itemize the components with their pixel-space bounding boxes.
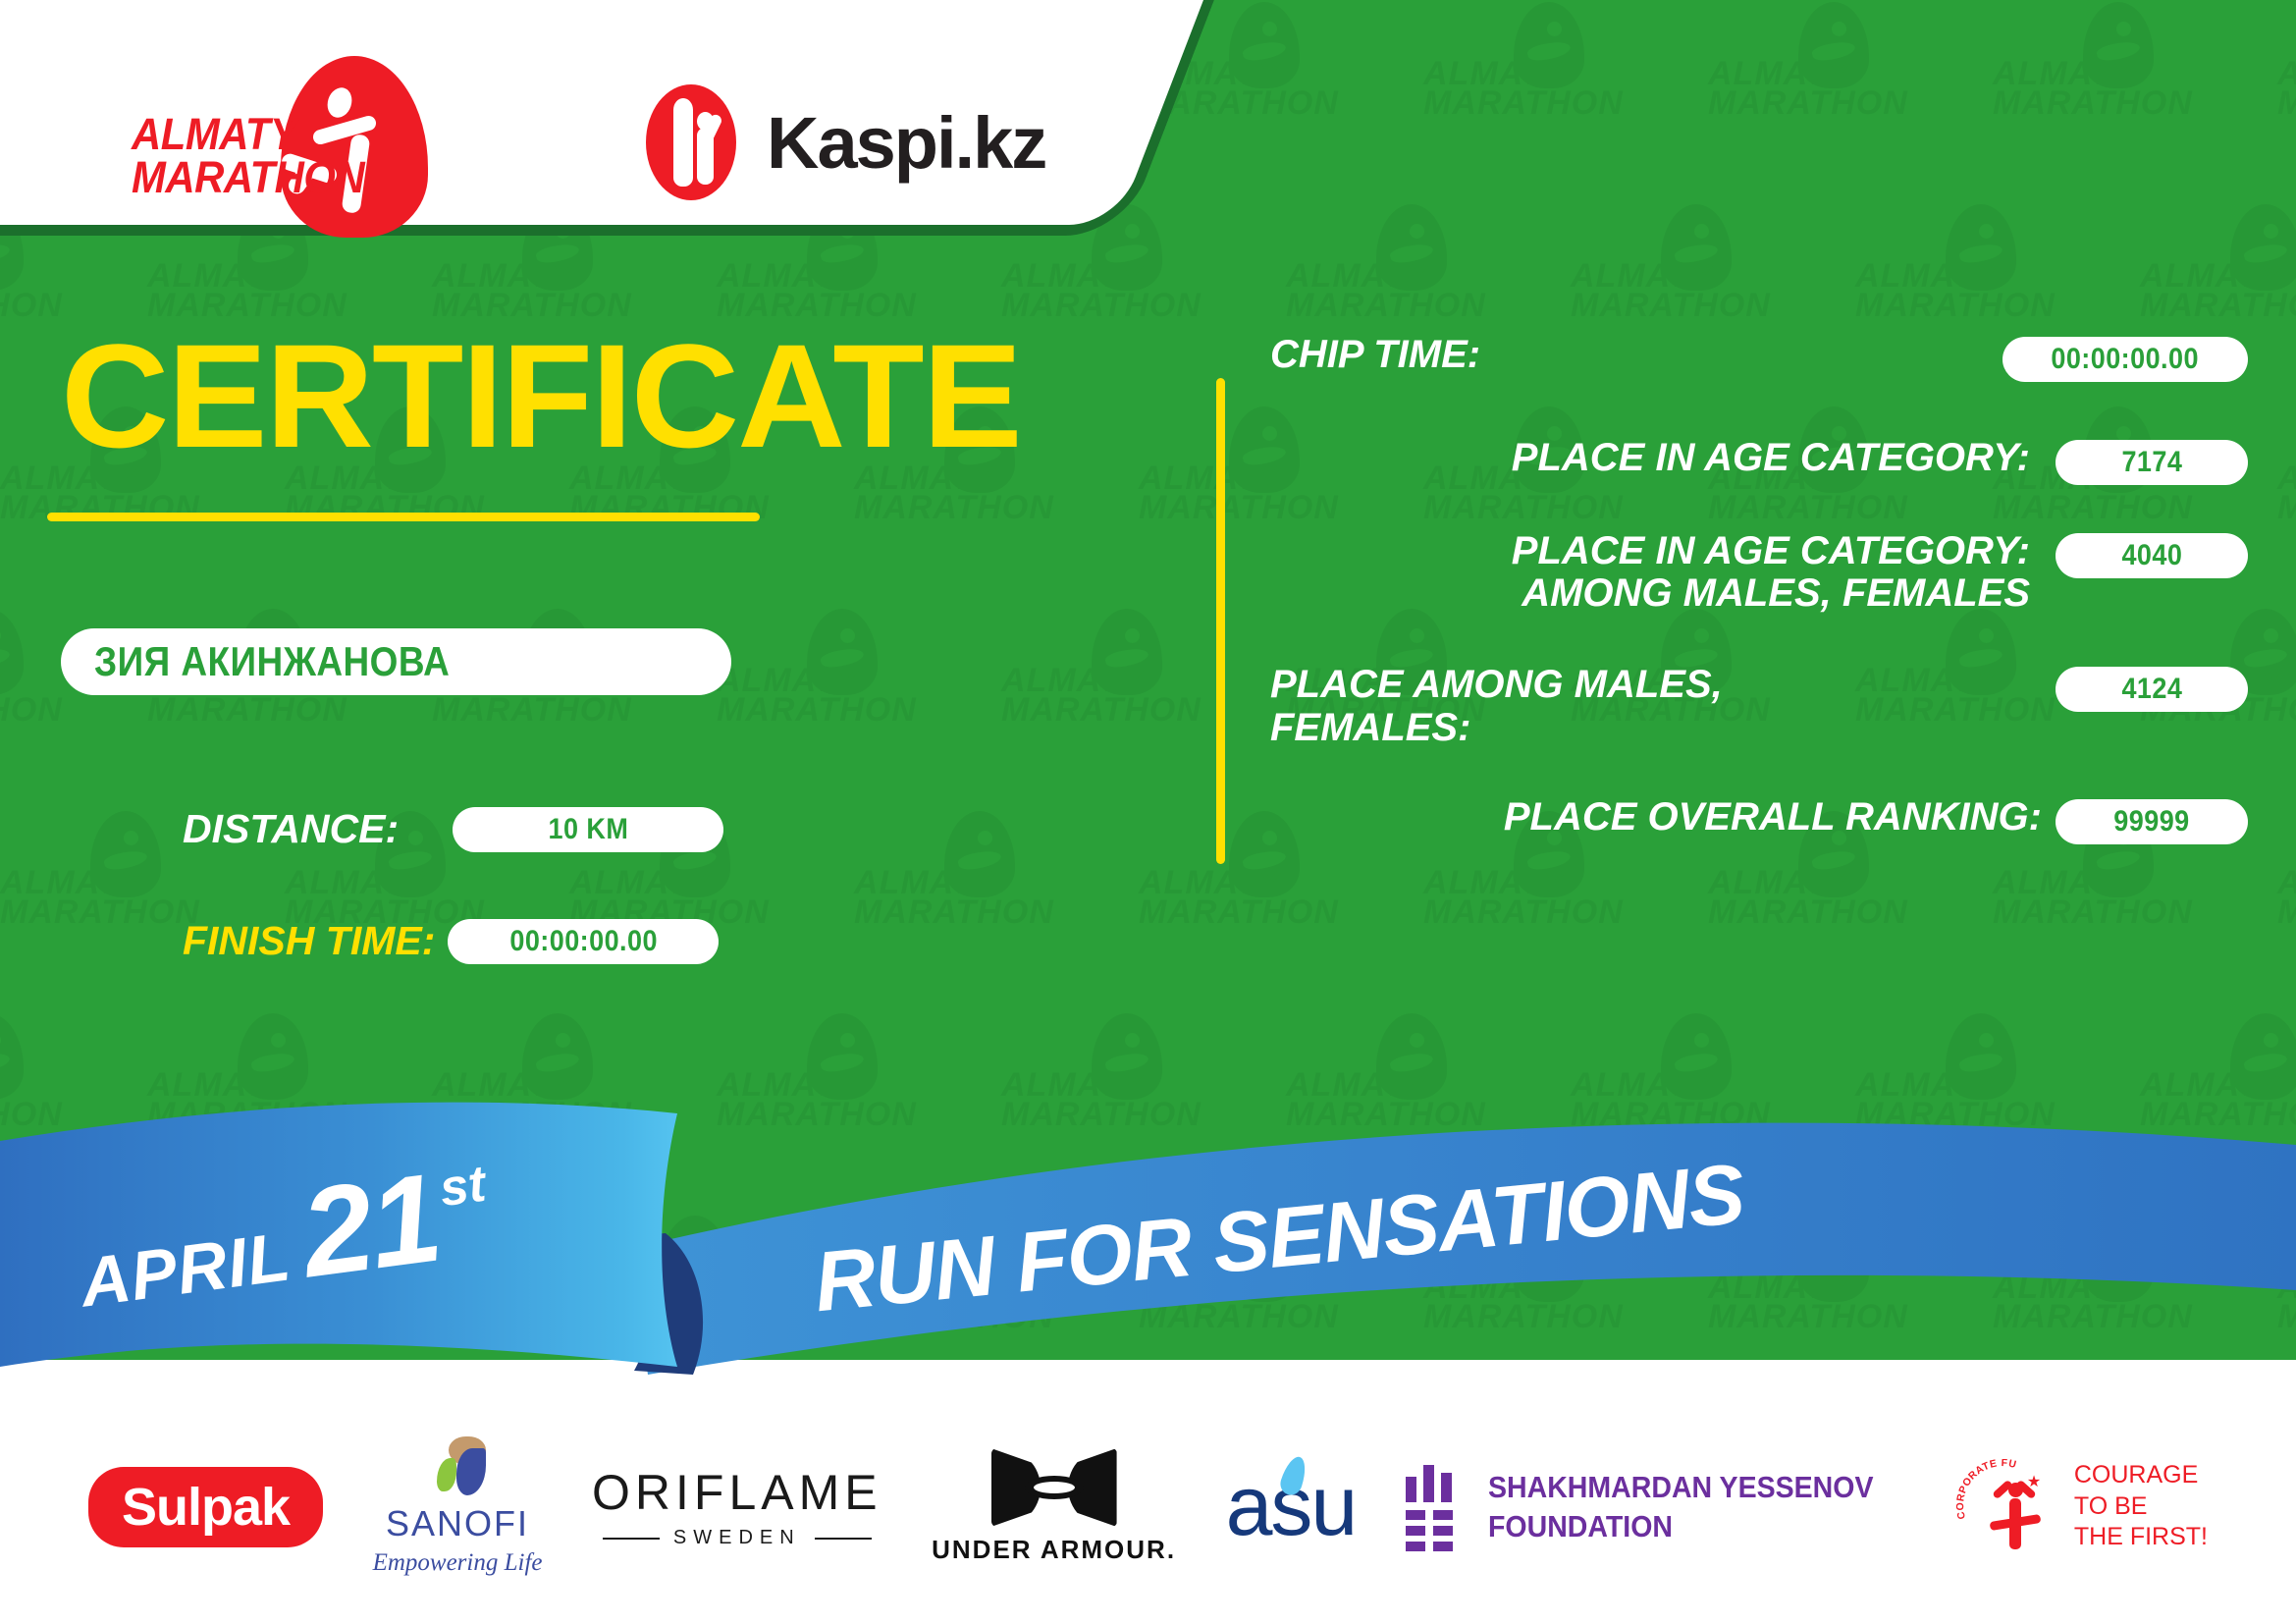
certificate-canvas: ALMATYMARATHONALMATYMARATHONALMATYMARATH… — [0, 0, 2296, 1624]
yessenov-grid — [1406, 1510, 1453, 1551]
kaspi-child-figure-icon — [697, 128, 714, 185]
oriflame-rule-right — [815, 1538, 872, 1540]
watermark-drop-icon — [1946, 204, 2016, 291]
kaspi-logo: Kaspi.kz — [638, 84, 1045, 200]
event-ribbon: APRIL 21 st RUN FOR SENSATIONS — [0, 1080, 2296, 1404]
watermark-line-1: ALMATY — [2277, 59, 2296, 89]
watermark-line-2: MARATHON — [1993, 88, 2193, 119]
watermark-drop-icon — [1514, 2, 1584, 88]
watermark-tile: ALMATYMARATHON — [1423, 0, 1679, 187]
sponsor-courage-fund: CORPORATE FUND ★ COURAGE TO BE THE FIRST… — [1956, 1453, 2208, 1561]
participant-name-value: ЗИЯ АКИНЖАНОВА — [94, 638, 450, 685]
watermark-tile: ALMATYMARATHON — [1708, 0, 1963, 187]
place-age-category-row: PLACE IN AGE CATEGORY: 7174 — [1266, 437, 2248, 485]
event-day-ordinal: st — [437, 1155, 490, 1219]
almaty-line: ALMATY — [132, 113, 364, 156]
courage-fund-icon: CORPORATE FUND ★ — [1956, 1453, 2062, 1561]
sponsor-asu: asu — [1226, 1458, 1357, 1555]
watermark-tile: ALMATYMARATHON — [2277, 405, 2296, 591]
kaspi-adult-figure-icon — [673, 102, 693, 187]
ua-center-oval — [1025, 1476, 1084, 1499]
place-among-gender-label: PLACE AMONG MALES, FEMALES: — [1266, 664, 2056, 748]
watermark-line-1: ALMATY — [2140, 261, 2282, 292]
watermark-line-2: MARATHON — [1708, 897, 1908, 928]
kaspi-wordmark: Kaspi.kz — [767, 101, 1045, 185]
chip-time-row: CHIP TIME: 00:00:00.00 — [1266, 334, 2248, 382]
distance-value: 10 KM — [548, 813, 628, 846]
watermark-drop-icon — [2230, 204, 2296, 291]
place-age-category-gender-row: PLACE IN AGE CATEGORY: AMONG MALES, FEMA… — [1266, 530, 2248, 615]
distance-value-pill: 10 KM — [453, 807, 723, 852]
watermark-line-2: MARATHON — [2277, 88, 2296, 119]
chip-time-label: CHIP TIME: — [1266, 334, 2002, 376]
family-circle-icon — [638, 84, 741, 200]
place-age-category-label: PLACE IN AGE CATEGORY: — [1266, 437, 2056, 479]
place-age-category-gender-value: 4040 — [2121, 539, 2182, 572]
watermark-line-2: MARATHON — [1423, 88, 1624, 119]
watermark-line-1: ALMATY — [1993, 59, 2135, 89]
sanofi-blue-shape — [456, 1448, 486, 1495]
place-overall-value: 99999 — [2113, 805, 2189, 839]
place-age-category-value-pill: 7174 — [2056, 440, 2248, 485]
chip-time-value: 00:00:00.00 — [2052, 343, 2200, 376]
place-among-gender-row: PLACE AMONG MALES, FEMALES: 4124 — [1266, 664, 2248, 748]
watermark-drop-icon — [1229, 2, 1300, 88]
watermark-line-1: ALMATY — [1423, 59, 1566, 89]
watermark-line-1: ALMATY — [1286, 261, 1428, 292]
watermark-drop-icon — [2083, 2, 2154, 88]
sponsor-bar: Sulpak SANOFI Empowering Life ORIFLAME S… — [0, 1389, 2296, 1624]
watermark-line-2: MARATHON — [1993, 897, 2193, 928]
header-logo-row: ALMATY MARATHON Kaspi.kz — [0, 0, 1217, 285]
watermark-drop-icon — [1661, 204, 1732, 291]
watermark-line-2: MARATHON — [1286, 291, 1486, 321]
participant-name-field[interactable]: ЗИЯ АКИНЖАНОВА — [61, 628, 731, 695]
watermark-tile: ALMATYMARATHON — [1993, 0, 2248, 187]
watermark-line-2: MARATHON — [1139, 897, 1339, 928]
finish-time-label: FINISH TIME: — [183, 918, 435, 964]
sanofi-tagline: Empowering Life — [373, 1549, 543, 1577]
finish-time-value-pill: 00:00:00.00 — [448, 919, 719, 964]
watermark-line-1: ALMATY — [1708, 868, 1850, 898]
place-overall-value-pill: 99999 — [2056, 799, 2248, 844]
watermark-line-2: MARATHON — [2277, 493, 2296, 523]
yessenov-bars — [1406, 1465, 1452, 1502]
results-column: CHIP TIME: 00:00:00.00 PLACE IN AGE CATE… — [1266, 334, 2248, 844]
watermark-line-1: ALMATY — [2277, 868, 2296, 898]
yessenov-wordmark: SHAKHMARDAN YESSENOV FOUNDATION — [1488, 1468, 1873, 1545]
watermark-line-1: ALMATY — [2277, 463, 2296, 494]
finish-time-value: 00:00:00.00 — [509, 925, 658, 958]
distance-label: DISTANCE: — [183, 806, 399, 852]
place-overall-label: PLACE OVERALL RANKING: — [1266, 796, 2056, 839]
event-day: 21 — [294, 1146, 447, 1307]
event-month: APRIL — [76, 1217, 295, 1322]
watermark-tile: ALMATYMARATHON — [2277, 0, 2296, 187]
yessenov-mark-icon — [1406, 1465, 1467, 1549]
sulpak-logo: Sulpak — [88, 1467, 323, 1547]
place-age-category-value: 7174 — [2121, 446, 2182, 479]
watermark-line-1: ALMATY — [1571, 261, 1713, 292]
place-age-category-gender-label: PLACE IN AGE CATEGORY: AMONG MALES, FEMA… — [1266, 530, 2056, 615]
watermark-line-2: MARATHON — [2140, 291, 2296, 321]
title-underline-rule — [47, 513, 760, 521]
watermark-line-1: ALMATY — [1855, 261, 1998, 292]
oriflame-wordmark: ORIFLAME — [592, 1464, 882, 1521]
sponsor-oriflame: ORIFLAME SWEDEN — [592, 1464, 882, 1549]
marathon-line: MARATHON — [132, 156, 364, 199]
watermark-line-1: ALMATY — [1423, 868, 1566, 898]
watermark-drop-icon — [1798, 2, 1869, 88]
place-among-gender-value-pill: 4124 — [2056, 667, 2248, 712]
distance-row: DISTANCE: 10 KM — [183, 806, 723, 852]
chip-time-value-pill: 00:00:00.00 — [2002, 337, 2248, 382]
watermark-line-1: ALMATY — [1708, 59, 1850, 89]
sanofi-green-shape — [437, 1458, 456, 1491]
oriflame-rule-left — [603, 1538, 660, 1540]
watermark-drop-icon — [1376, 204, 1447, 291]
sponsor-sanofi: SANOFI Empowering Life — [373, 1436, 543, 1577]
under-armour-wordmark: UNDER ARMOUR. — [932, 1535, 1176, 1565]
watermark-line-1: ALMATY — [1993, 868, 2135, 898]
under-armour-icon — [991, 1448, 1117, 1527]
vertical-divider — [1216, 378, 1225, 864]
place-among-gender-value: 4124 — [2121, 673, 2182, 706]
watermark-tile: ALMATYMARATHON — [2277, 809, 2296, 996]
almaty-marathon-logo: ALMATY MARATHON — [128, 64, 452, 221]
courage-wordmark: COURAGE TO BE THE FIRST! — [2074, 1460, 2208, 1553]
place-age-category-gender-value-pill: 4040 — [2056, 533, 2248, 578]
place-overall-row: PLACE OVERALL RANKING: 99999 — [1266, 796, 2248, 844]
finish-time-row: FINISH TIME: 00:00:00.00 — [183, 918, 719, 964]
sponsor-yessenov-foundation: SHAKHMARDAN YESSENOV FOUNDATION — [1406, 1465, 1907, 1549]
watermark-line-2: MARATHON — [1571, 291, 1771, 321]
sponsor-sulpak: Sulpak — [88, 1467, 323, 1547]
sponsor-under-armour: UNDER ARMOUR. — [932, 1448, 1176, 1565]
sanofi-bird-icon — [427, 1436, 488, 1497]
watermark-line-2: MARATHON — [2277, 897, 2296, 928]
oriflame-sweden-label: SWEDEN — [673, 1527, 801, 1549]
watermark-line-2: MARATHON — [1855, 291, 2056, 321]
courage-figure-icon: ★ — [1992, 1473, 2037, 1549]
oriflame-sub-row: SWEDEN — [603, 1527, 872, 1549]
watermark-line-2: MARATHON — [1423, 897, 1624, 928]
watermark-line-2: MARATHON — [1708, 88, 1908, 119]
almaty-marathon-wordmark: ALMATY MARATHON — [132, 113, 364, 199]
sanofi-wordmark: SANOFI — [386, 1503, 529, 1544]
page-title: CERTIFICATE — [61, 322, 1021, 469]
